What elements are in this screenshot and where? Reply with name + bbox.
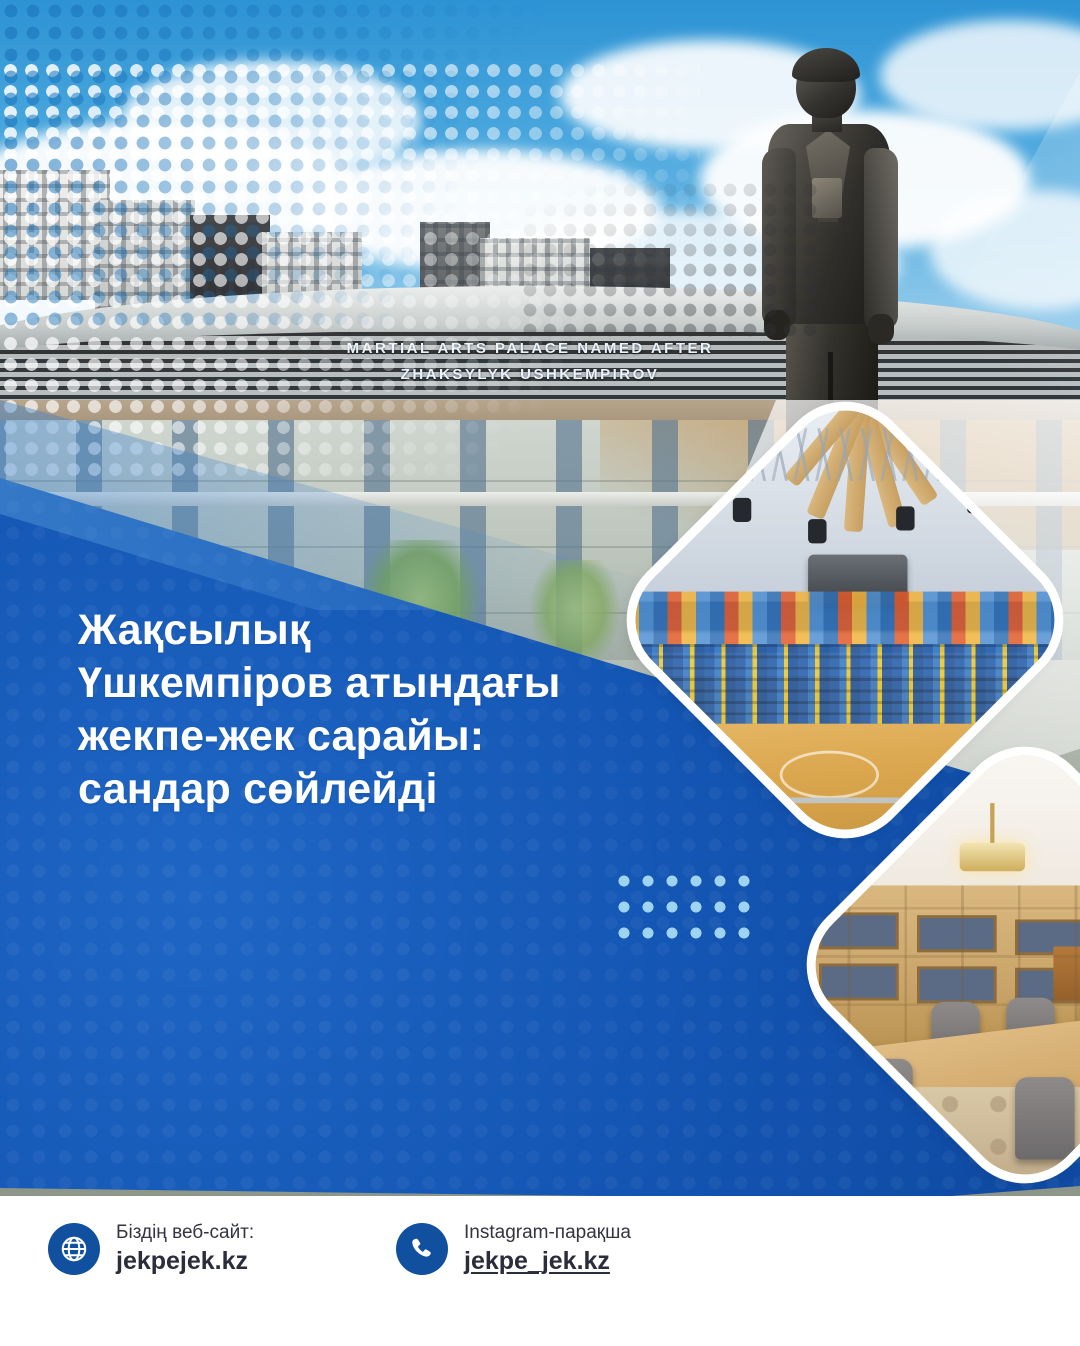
halftone-dots-dark	[520, 180, 820, 340]
footer-website-item[interactable]: Біздің веб-сайт: jekpejek.kz	[48, 1222, 254, 1277]
headline-line-2: Үшкемпіров атындағы	[78, 657, 638, 710]
footer-contact-bar: Біздің веб-сайт: jekpejek.kz Instagram-п…	[0, 1196, 1080, 1346]
headline-line-1: Жақсылық	[78, 604, 638, 657]
page-title: Жақсылық Үшкемпіров атындағы жекпе-жек с…	[78, 604, 638, 816]
phone-icon	[396, 1223, 448, 1275]
footer-instagram-item[interactable]: Instagram-парақша jekpe_jek.kz	[396, 1222, 631, 1277]
headline-line-4: сандар сөйлейді	[78, 763, 638, 816]
footer-instagram-label: Instagram-парақша	[464, 1222, 631, 1244]
globe-icon	[48, 1223, 100, 1275]
footer-website-value[interactable]: jekpejek.kz	[116, 1247, 254, 1277]
footer-website-label: Біздің веб-сайт:	[116, 1222, 254, 1244]
poster-canvas: MARTIAL ARTS PALACE NAMED AFTER ZHAKSYLY…	[0, 0, 1080, 1346]
headline-line-3: жекпе-жек сарайы:	[78, 710, 638, 763]
dot-grid-decoration	[612, 868, 758, 950]
footer-instagram-value[interactable]: jekpe_jek.kz	[464, 1247, 631, 1277]
